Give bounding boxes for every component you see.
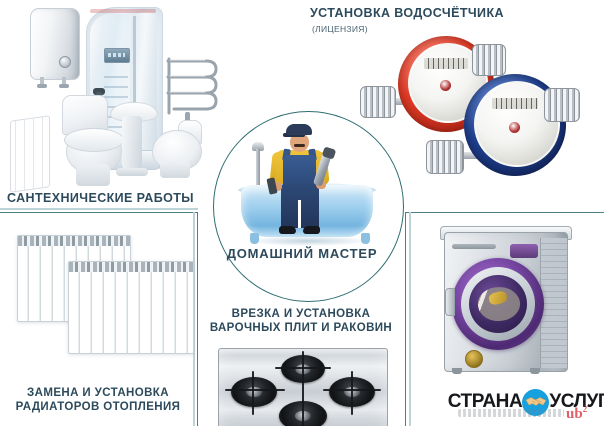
washing-machine-foot-right: [530, 368, 540, 374]
cold-meter-odometer: [492, 98, 538, 109]
burner-left: [231, 377, 277, 407]
divider-vertical-right: [405, 212, 406, 426]
shower-cabin-top-trim: [90, 9, 156, 13]
radiator-thumb-icon: [10, 115, 50, 193]
divider-horizontal-right: [405, 212, 604, 213]
plumber-shoe-right: [303, 226, 320, 234]
pedestal-sink-base: [116, 168, 148, 176]
heated-towel-rail-icon: [160, 55, 220, 117]
bathtub-shadow: [247, 236, 369, 246]
caption-radiators: ЗАМЕНА И УСТАНОВКА РАДИАТОРОВ ОТОПЛЕНИЯ: [0, 387, 196, 414]
divider-horizontal-left: [0, 212, 198, 213]
washing-machine-control-panel: [510, 244, 538, 258]
grate-bar-4: [302, 351, 304, 426]
faucet-pipe-icon: [256, 148, 260, 188]
hot-meter-nut-left: [360, 86, 396, 118]
cell-plumbing: [0, 0, 197, 212]
pedestal-sink-column: [122, 116, 142, 172]
caption-water-meter-license: (ЛИЦЕНЗИЯ): [312, 24, 368, 34]
washing-machine-foot-left: [452, 368, 462, 374]
gas-cooktop-icon: [218, 348, 388, 426]
caption-water-meter: УСТАНОВКА ВОДОСЧЁТЧИКА: [310, 6, 504, 21]
shower-cabin-display: [104, 48, 130, 63]
toilet-base: [76, 164, 110, 186]
bidet-base: [160, 162, 190, 178]
poster-root: САНТЕХНИЧЕСКИЕ РАБОТЫ УСТАНОВКА ВОДОСЧЁТ…: [0, 0, 604, 426]
caption-plumbing: САНТЕХНИЧЕСКИЕ РАБОТЫ: [7, 191, 194, 206]
cold-meter-nut-right: [544, 88, 580, 122]
caption-radiators-line2: РАДИАТОРОВ ОТОПЛЕНИЯ: [0, 401, 196, 415]
caption-radiators-line1: ЗАМЕНА И УСТАНОВКА: [0, 387, 196, 401]
caption-stove: ВРЕЗКА И УСТАНОВКА ВАРОЧНЫХ ПЛИТ И РАКОВ…: [198, 308, 404, 335]
toilet-seat: [64, 128, 124, 152]
cold-meter-needle: [509, 122, 520, 133]
water-heater-cap-right: [59, 84, 69, 88]
water-heater-cap-left: [37, 84, 47, 88]
washing-machine-side-vents: [540, 238, 567, 368]
water-heater-knob-icon: [59, 56, 71, 68]
watermark-badge: ub2: [566, 404, 587, 423]
cold-meter-nut-left: [426, 140, 464, 174]
cold-water-meter-icon: [448, 74, 598, 194]
washing-machine-door-handle: [445, 288, 455, 316]
radiator-large-icon: [68, 261, 194, 354]
watermark-badge-sup: 2: [583, 404, 588, 414]
watermark-badge-text: ub: [566, 406, 583, 422]
grate-bar-5: [252, 371, 254, 415]
hot-meter-odometer: [424, 58, 468, 69]
plumber-shoe-left: [279, 226, 296, 234]
caption-stove-line2: ВАРОЧНЫХ ПЛИТ И РАКОВИН: [198, 322, 404, 336]
plumber-moustache: [294, 144, 305, 147]
grate-bar-1: [225, 389, 285, 391]
plumber-overalls-bib: [283, 155, 316, 185]
caption-stove-line1: ВРЕЗКА И УСТАНОВКА: [198, 308, 404, 322]
watermark-subtitle-blurred: [458, 409, 564, 417]
grate-bar-6: [351, 371, 353, 415]
washing-machine-detergent-drawer: [452, 244, 496, 249]
divider-vertical-right-upper: [409, 212, 411, 426]
water-heater-icon: [30, 8, 80, 80]
hot-meter-nut-right: [472, 44, 506, 76]
plumber-leg-gap: [298, 200, 301, 228]
plumber-cap: [286, 124, 312, 135]
washing-machine-filter-cap: [465, 350, 483, 368]
